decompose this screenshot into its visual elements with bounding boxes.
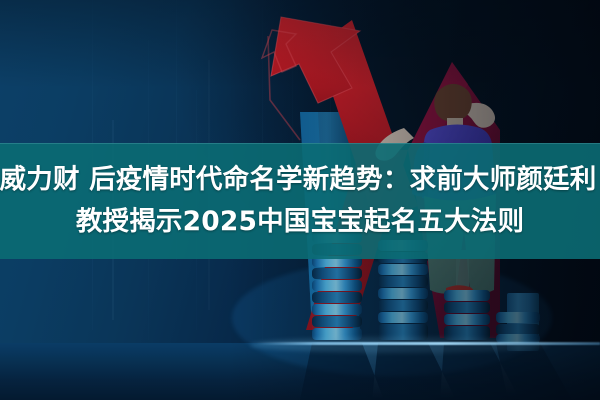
- headline-band: [0, 143, 600, 259]
- floor-highlight-edge: [256, 342, 600, 345]
- banner-image: 威力财 后疫情时代命名学新趋势：求前大师颜廷利 教授揭示2025中国宝宝起名五大…: [0, 0, 600, 400]
- band-top-divider: [0, 143, 600, 144]
